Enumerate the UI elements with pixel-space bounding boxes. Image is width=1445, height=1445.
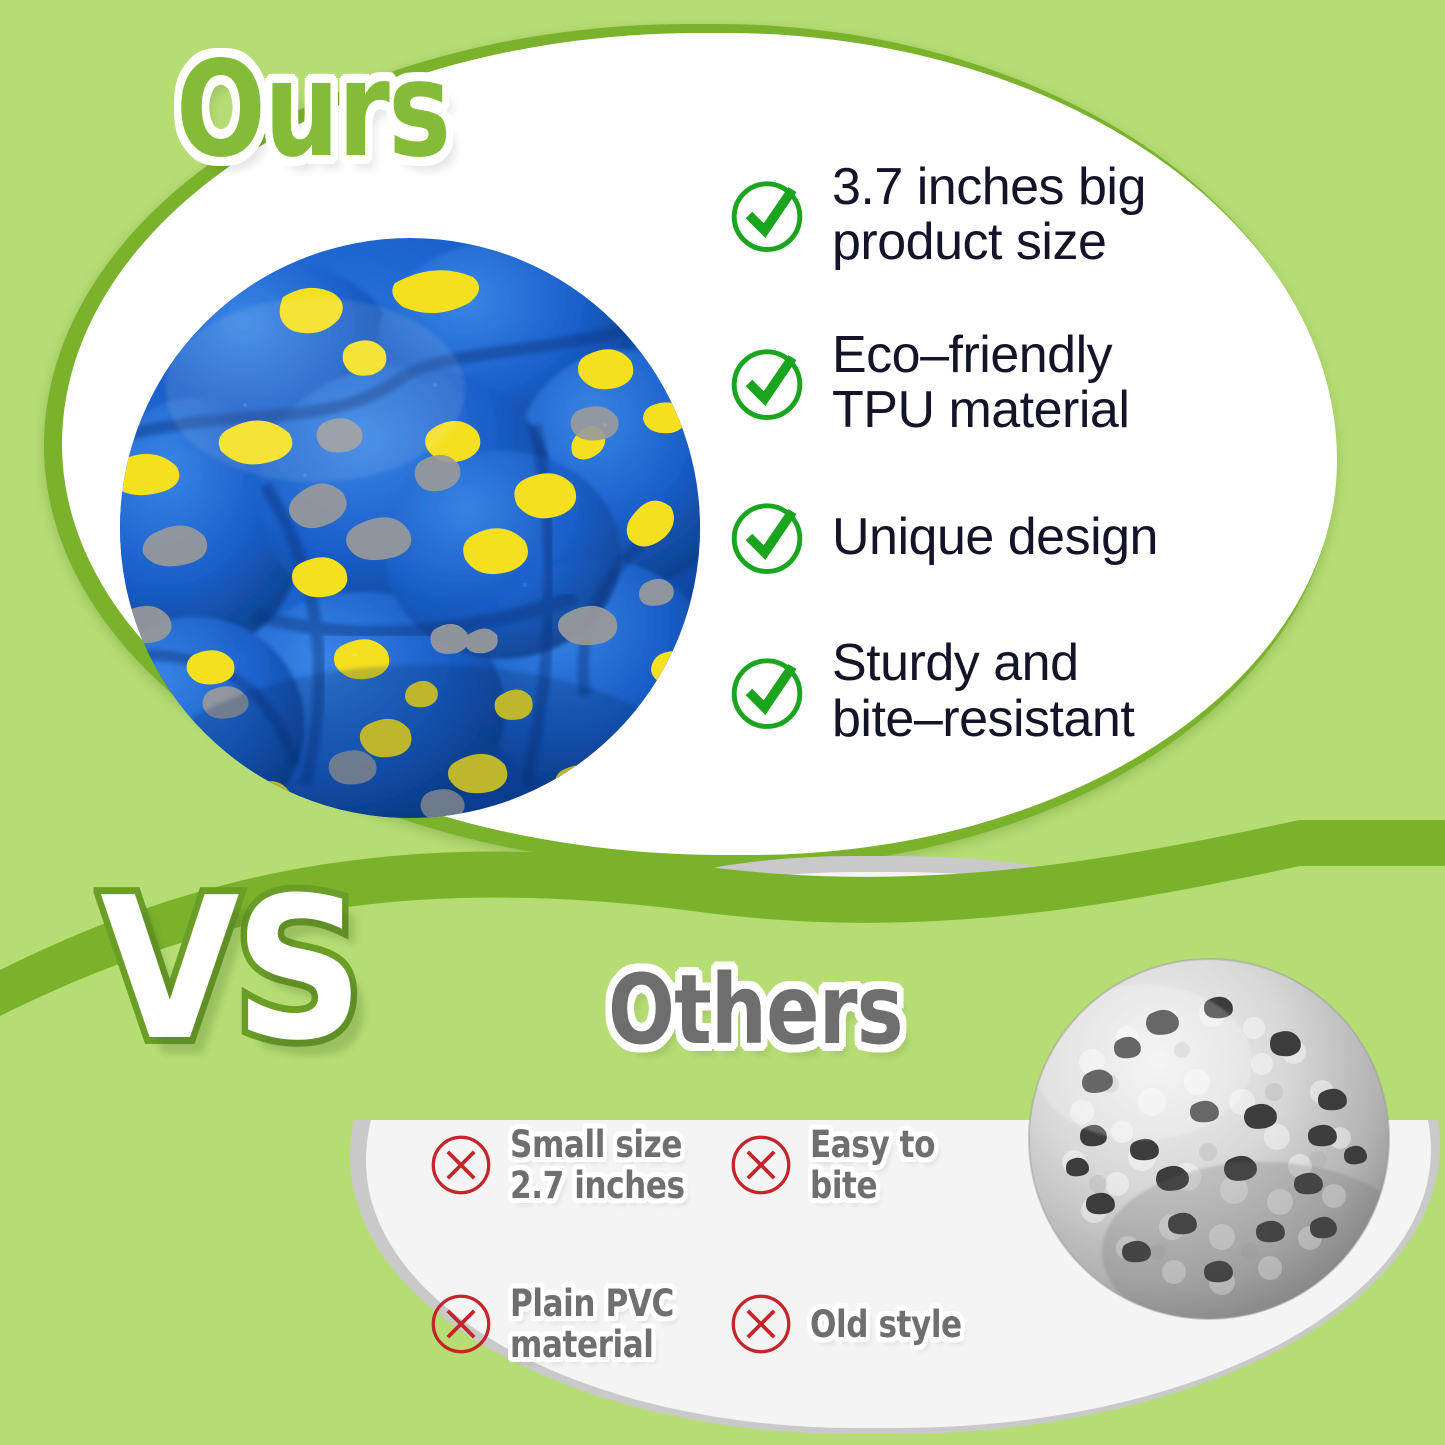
x-circle-icon: [728, 1291, 794, 1357]
con-label: Easy to bite: [810, 1124, 985, 1207]
others-title: Others: [608, 962, 903, 1058]
x-circle-icon: [728, 1132, 794, 1198]
con-label: Old style: [810, 1304, 962, 1345]
con-item: Old style: [728, 1283, 1018, 1366]
x-circle-icon: [428, 1132, 494, 1198]
con-item: Easy to bite: [728, 1124, 1018, 1207]
check-circle-icon: [726, 496, 808, 578]
con-label: Plain PVC material: [510, 1283, 674, 1366]
feature-item: 3.7 inches big product size: [726, 160, 1196, 270]
check-circle-icon: [726, 342, 808, 424]
infographic-canvas: Ours: [0, 0, 1445, 1445]
feature-label: Unique design: [832, 510, 1158, 565]
check-circle-icon: [726, 651, 808, 733]
check-circle-icon: [726, 174, 808, 256]
others-con-list: Small size 2.7 inches Easy to bite Plain…: [428, 1124, 1018, 1366]
con-label: Small size 2.7 inches: [510, 1124, 685, 1207]
ours-product-image: [105, 225, 715, 830]
feature-label: Eco–friendly TPU material: [832, 328, 1129, 438]
con-item: Plain PVC material: [428, 1283, 728, 1366]
feature-item: Unique design: [726, 496, 1196, 578]
ours-title: Ours: [176, 44, 449, 176]
ours-feature-list: 3.7 inches big product size Eco–friendly…: [726, 160, 1196, 747]
x-circle-icon: [428, 1291, 494, 1357]
others-product-image: [1022, 952, 1396, 1326]
feature-label: Sturdy and bite–resistant: [832, 636, 1134, 746]
feature-item: Sturdy and bite–resistant: [726, 636, 1196, 746]
vs-label: VS: [100, 872, 358, 1068]
con-item: Small size 2.7 inches: [428, 1124, 728, 1207]
feature-label: 3.7 inches big product size: [832, 160, 1146, 270]
feature-item: Eco–friendly TPU material: [726, 328, 1196, 438]
